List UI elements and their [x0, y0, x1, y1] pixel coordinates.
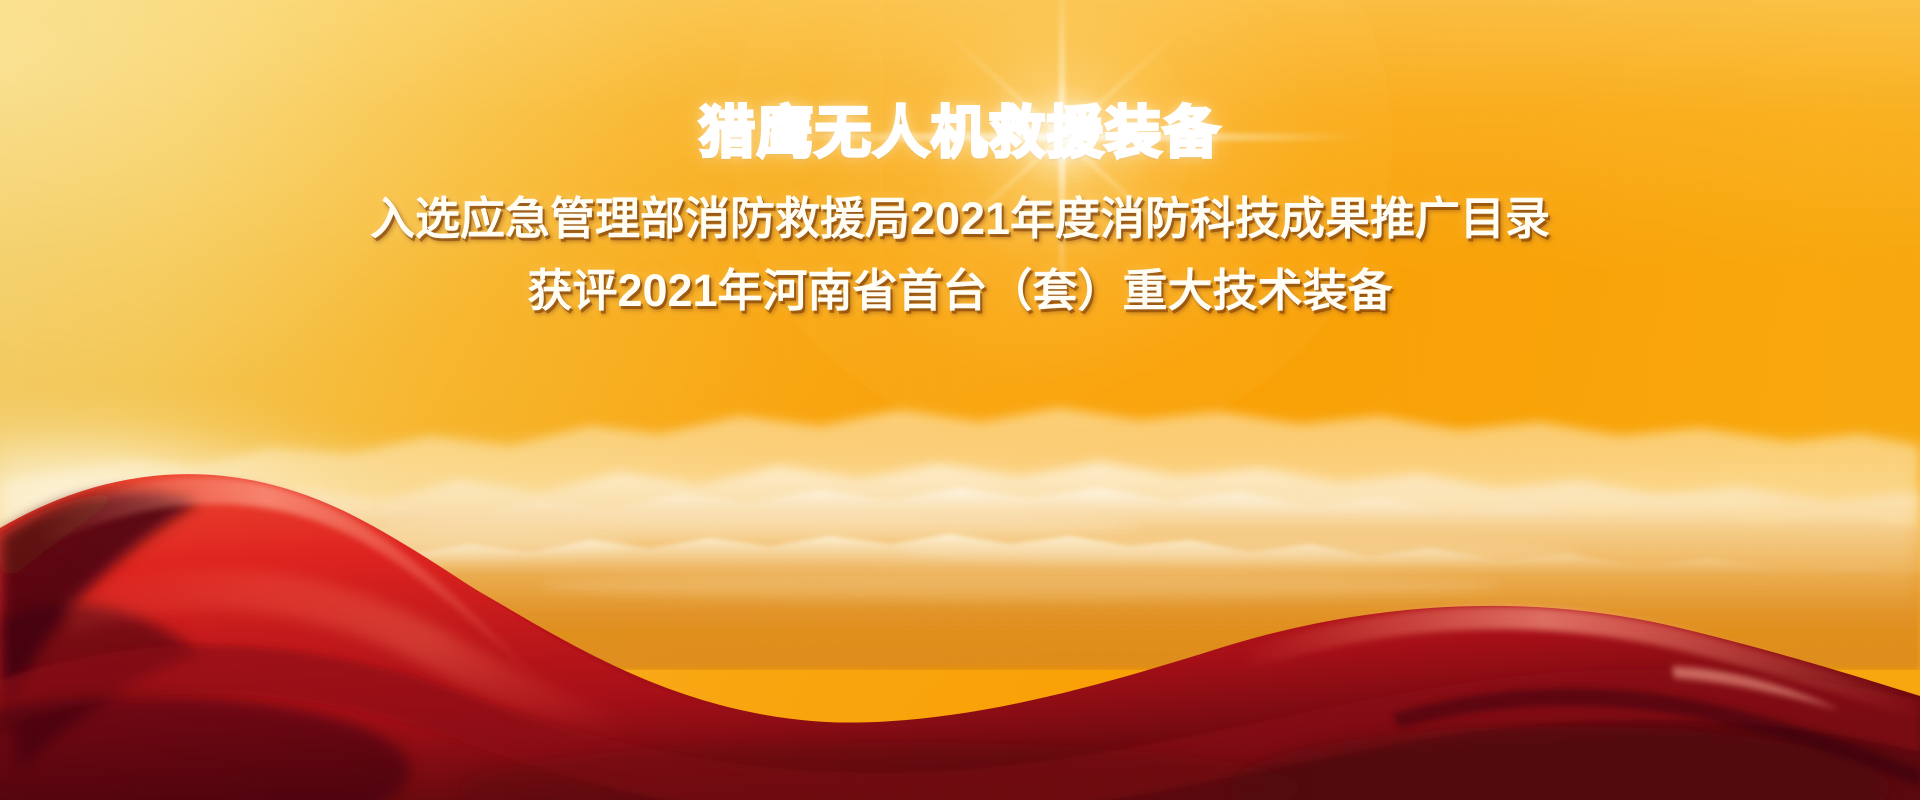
banner-text-block: 猎鹰无人机救援装备 入选应急管理部消防救援局2021年度消防科技成果推广目录 获… — [0, 104, 1920, 323]
red-silk-ribbon-wave — [0, 470, 1920, 800]
banner-subtitle-line-2: 获评2021年河南省首台（套）重大技术装备 — [0, 259, 1920, 323]
banner-subtitle-line-1: 入选应急管理部消防救援局2021年度消防科技成果推广目录 — [0, 187, 1920, 251]
banner-main-title: 猎鹰无人机救援装备 — [0, 104, 1920, 163]
promo-banner: 猎鹰无人机救援装备 入选应急管理部消防救援局2021年度消防科技成果推广目录 获… — [0, 0, 1920, 800]
